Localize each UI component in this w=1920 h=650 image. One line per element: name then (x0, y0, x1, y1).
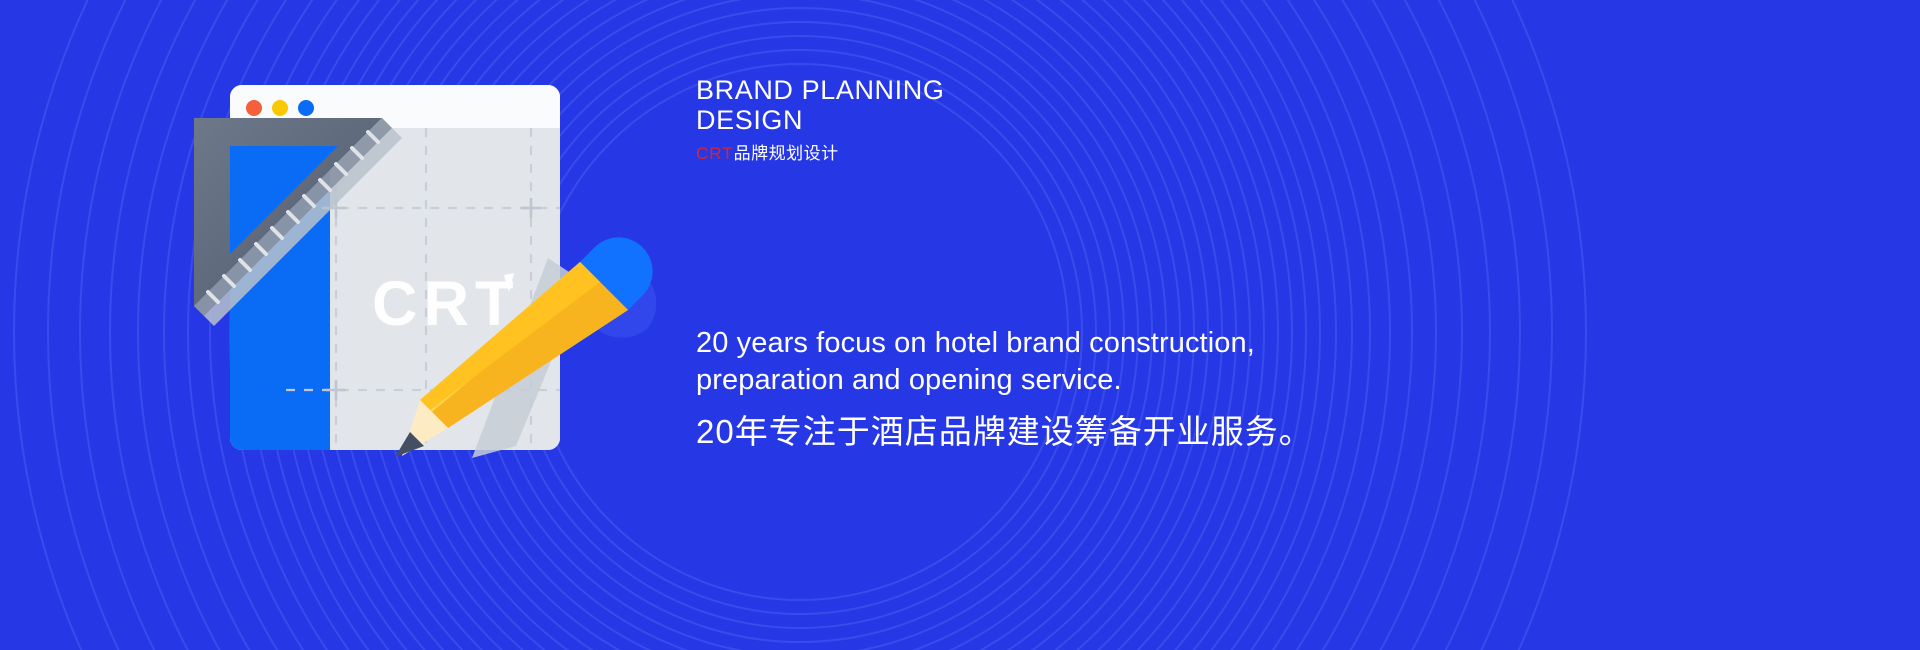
tagline-chinese: 20年专注于酒店品牌建设筹备开业服务。 (696, 411, 1456, 453)
maximize-dot[interactable] (298, 100, 314, 116)
svg-text:CRT: CRT (372, 269, 519, 339)
headline-english: BRAND PLANNING DESIGN (696, 75, 1396, 135)
brand-design-illustration: CRT (186, 60, 706, 490)
brand-banner: CRT (0, 0, 1920, 650)
tagline-english: 20 years focus on hotel brand constructi… (696, 325, 1456, 399)
banner-text-column: BRAND PLANNING DESIGN CRT品牌规划设计 20 years… (696, 0, 1876, 650)
headline-chinese: CRT品牌规划设计 (696, 144, 1396, 164)
crt-watermark: CRT (372, 269, 519, 339)
minimize-dot[interactable] (272, 100, 288, 116)
headline-chinese-text: 品牌规划设计 (734, 144, 839, 163)
brand-prefix-crt: CRT (696, 144, 734, 163)
header-block: BRAND PLANNING DESIGN CRT品牌规划设计 (696, 75, 1396, 164)
tagline-block: 20 years focus on hotel brand constructi… (696, 325, 1456, 453)
close-dot[interactable] (246, 100, 262, 116)
